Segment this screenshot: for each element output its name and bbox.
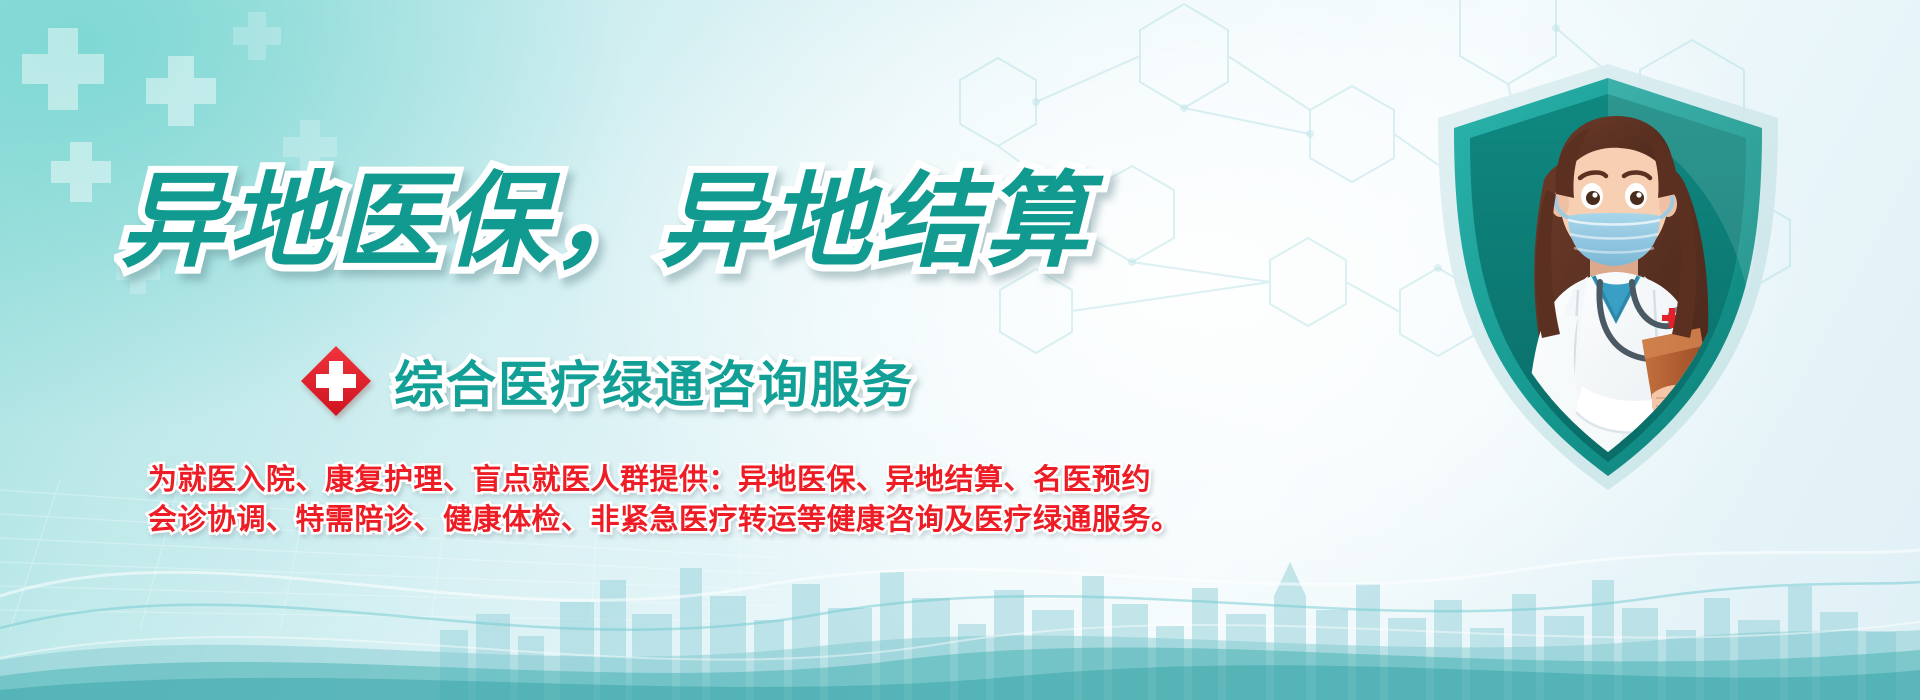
description-line-1: 为就医入院、康复护理、盲点就医人群提供：异地医保、异地结算、名医预约 [148,462,1088,500]
subtitle-row: 综合医疗绿通咨询服务 [300,345,914,417]
medical-service-banner: 异地医保，异地结算 综合医疗绿通咨询服务 为就医入院、康复护理、盲点 [0,0,1920,700]
description-line-2: 会诊协调、特需陪诊、健康体检、非紧急医疗转运等健康咨询及医疗绿通服务。 [148,502,1088,540]
doctor-shield-graphic [1428,58,1788,498]
subtitle-text: 综合医疗绿通咨询服务 [394,345,914,417]
banner-content: 异地医保，异地结算 综合医疗绿通咨询服务 为就医入院、康复护理、盲点 [0,0,1150,700]
service-description: 为就医入院、康复护理、盲点就医人群提供：异地医保、异地结算、名医预约 会诊协调、… [148,462,1088,541]
page-title: 异地医保，异地结算 [120,168,1080,277]
title-text: 异地医保，异地结算 [120,164,1092,280]
female-doctor-illustration [1456,76,1768,496]
red-cross-diamond-icon [300,345,372,417]
